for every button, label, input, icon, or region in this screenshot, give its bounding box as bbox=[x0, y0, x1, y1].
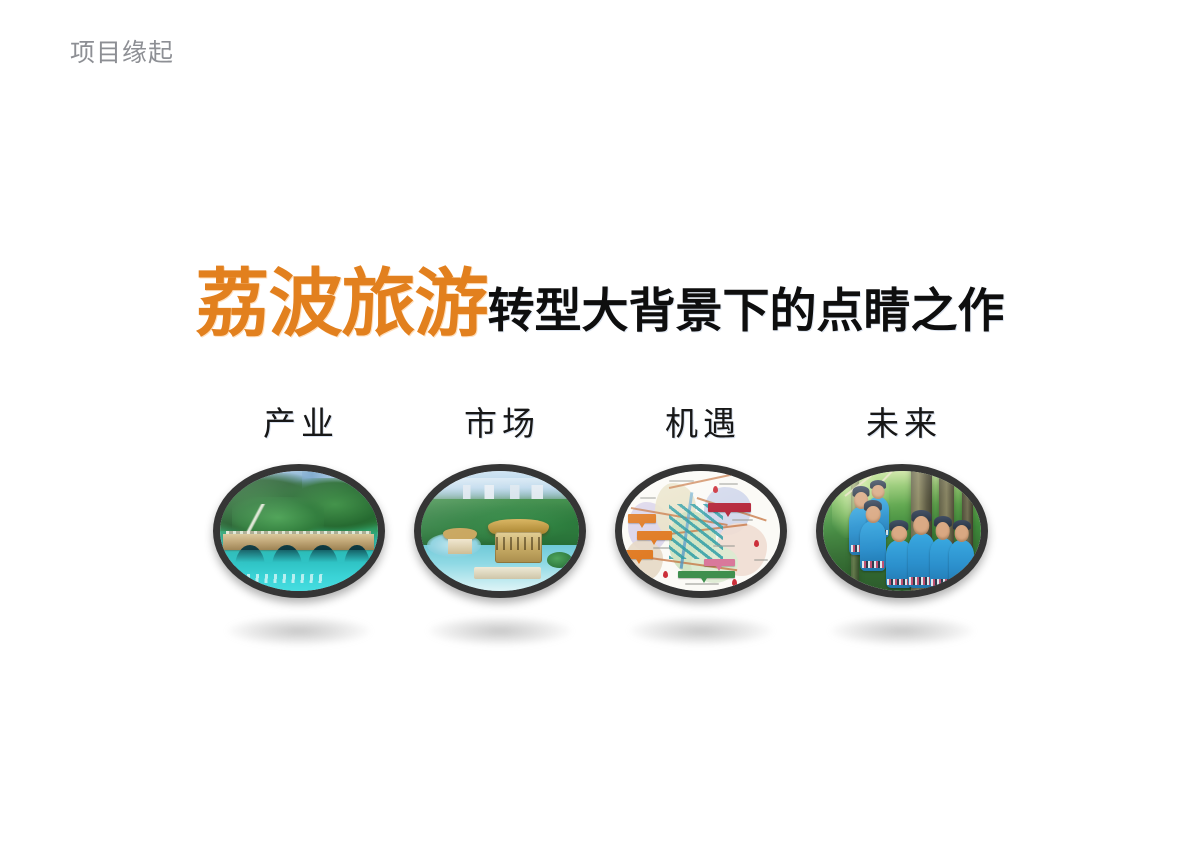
pillar-label-market: 市场 bbox=[459, 404, 540, 444]
pillar-label-opportunity: 机遇 bbox=[660, 404, 741, 444]
oval-photo-resort-icon[interactable] bbox=[414, 464, 586, 598]
oval-drop-shadow bbox=[629, 616, 773, 646]
oval-photo-wrap-market bbox=[414, 464, 586, 598]
artwork-folk bbox=[823, 471, 981, 591]
oval-photo-wrap-opportunity bbox=[615, 464, 787, 598]
oval-photo-wrap-industry bbox=[213, 464, 385, 598]
slide-canvas: 项目缘起 荔波旅游 转型大背景下的点睛之作 产业 bbox=[0, 0, 1200, 849]
oval-drop-shadow bbox=[227, 616, 371, 646]
pillar-item-future[interactable]: 未来 bbox=[803, 404, 1000, 598]
oval-photo-inner bbox=[220, 471, 378, 591]
artwork-map bbox=[622, 471, 780, 591]
oval-drop-shadow bbox=[830, 616, 974, 646]
pillar-label-industry: 产业 bbox=[258, 404, 339, 444]
section-kicker: 项目缘起 bbox=[70, 38, 174, 68]
page-title-accent: 荔波旅游 bbox=[196, 268, 488, 340]
pillar-item-market[interactable]: 市场 bbox=[401, 404, 598, 598]
oval-photo-wrap-future bbox=[816, 464, 988, 598]
oval-drop-shadow bbox=[428, 616, 572, 646]
oval-photo-bridge-icon[interactable] bbox=[213, 464, 385, 598]
page-title: 荔波旅游 转型大背景下的点睛之作 bbox=[0, 252, 1200, 338]
page-title-main: 转型大背景下的点睛之作 bbox=[488, 286, 1005, 335]
pillar-row: 产业 bbox=[200, 404, 1000, 684]
oval-photo-map-icon[interactable] bbox=[615, 464, 787, 598]
pillar-item-industry[interactable]: 产业 bbox=[200, 404, 397, 598]
oval-photo-inner bbox=[622, 471, 780, 591]
oval-photo-inner bbox=[421, 471, 579, 591]
pillar-item-opportunity[interactable]: 机遇 bbox=[602, 404, 799, 598]
artwork-resort bbox=[421, 471, 579, 591]
oval-photo-inner bbox=[823, 471, 981, 591]
oval-photo-folk-icon[interactable] bbox=[816, 464, 988, 598]
artwork-bridge bbox=[220, 471, 378, 591]
pillar-label-future: 未来 bbox=[861, 404, 942, 444]
